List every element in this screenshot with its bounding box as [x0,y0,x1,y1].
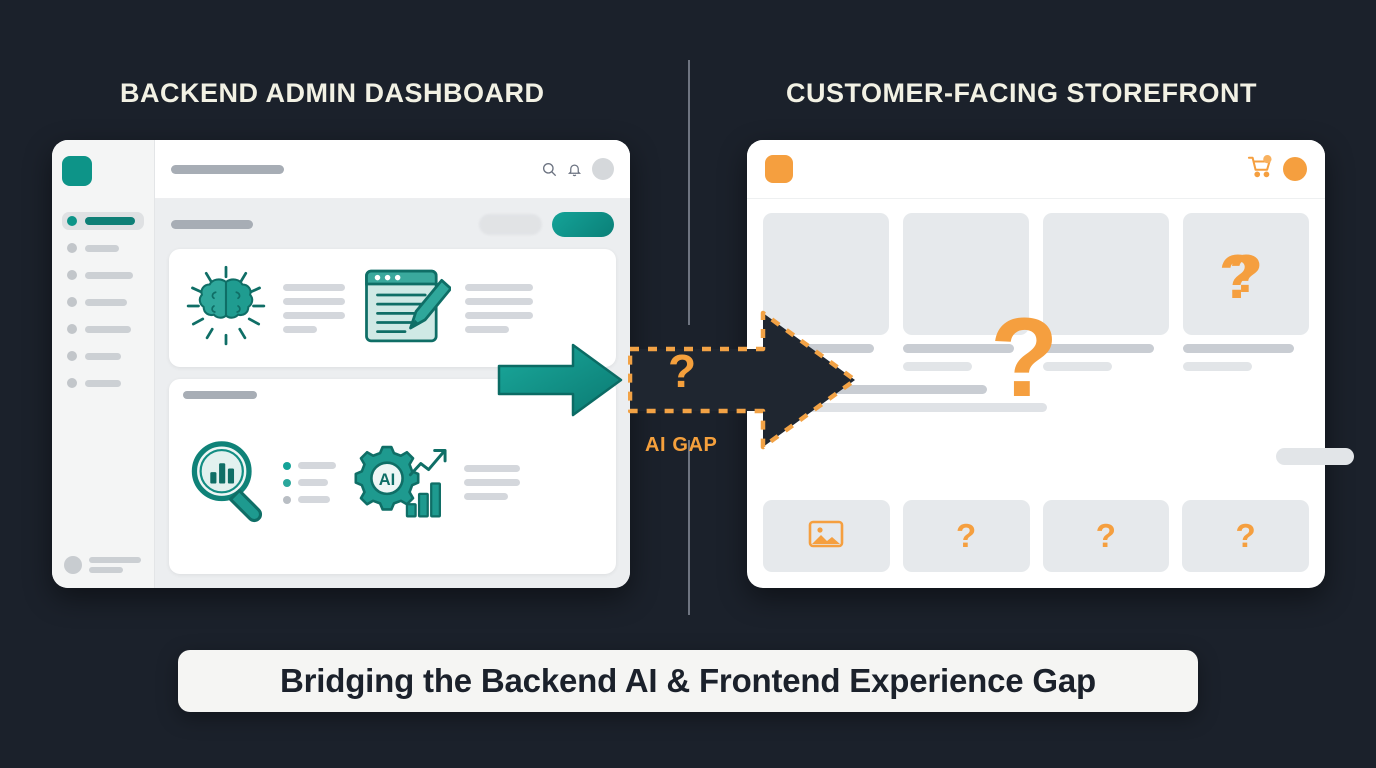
admin-logo-icon[interactable] [62,156,92,186]
nav-dot-icon [67,297,77,307]
image-icon [808,519,844,554]
panel-title-storefront: CUSTOMER-FACING STOREFRONT [786,78,1257,109]
storefront-topbar [747,140,1325,199]
nav-label-placeholder [85,326,131,333]
teal-right-arrow-icon [497,340,625,425]
sidebar-item-1[interactable] [62,212,144,230]
avatar [64,556,82,574]
sidebar-item-6[interactable] [62,347,144,365]
bullet-item-1 [283,462,336,470]
product-price-placeholder [1183,362,1252,371]
gap-question-mark: ? [668,348,696,394]
bullet-dot-icon [283,462,291,470]
nav-dot-icon [67,243,77,253]
admin-sidebar [52,140,155,588]
page-title [171,220,253,229]
nav-label-placeholder [85,245,119,252]
search-input[interactable] [171,165,284,174]
admin-nav-list [62,212,144,392]
brain-icon [183,263,269,354]
store-logo-icon[interactable] [765,155,793,183]
nav-label-placeholder [85,217,135,225]
thumbnail-row: ? ? ? [763,500,1309,572]
vertical-divider-bottom [688,440,690,615]
infographic-stage: BACKEND ADMIN DASHBOARD CUSTOMER-FACING … [0,0,1376,768]
storefront-question-mark-small: ? [1219,253,1257,304]
product-title-placeholder [1043,344,1154,353]
thumbnail-placeholder[interactable]: ? [1182,500,1309,572]
question-icon: ? [1236,522,1256,550]
admin-topbar [155,140,630,199]
bullet-dot-icon [283,479,291,487]
bullet-dot-icon [283,496,291,504]
storefront-pill-placeholder [1276,448,1354,465]
profile-text-placeholder [89,557,141,573]
sidebar-item-3[interactable] [62,266,144,284]
bullet-item-3 [283,496,336,504]
nav-label-placeholder [85,353,121,360]
primary-button[interactable] [552,212,614,237]
question-icon: ? [1096,522,1116,550]
bell-icon[interactable] [567,162,582,177]
bullet-item-2 [283,479,336,487]
nav-label-placeholder [85,299,127,306]
document-pen-icon [359,262,451,355]
gap-label: AI GAP [645,434,718,457]
ai-gear-icon: AI [348,436,452,529]
nav-label-placeholder [85,380,121,387]
caption-banner: Bridging the Backend AI & Frontend Exper… [178,650,1198,712]
storefront-question-mark-large: ? [990,312,1058,404]
sidebar-item-5[interactable] [62,320,144,338]
question-icon: ? [956,522,976,550]
vertical-divider-top [688,60,690,325]
thumbnail-placeholder[interactable]: ? [1043,500,1170,572]
shopping-cart-icon[interactable] [1247,155,1273,184]
sidebar-item-4[interactable] [62,293,144,311]
avatar[interactable] [1283,157,1307,181]
insights-bullet-list [283,462,336,504]
magnifier-chart-icon [183,436,271,529]
insights-card-title-placeholder [183,391,257,399]
product-price-placeholder [903,362,972,371]
nav-dot-icon [67,378,77,388]
insights-card-row: AI [183,403,602,562]
product-card[interactable] [1043,213,1169,371]
nav-dot-icon [67,351,77,361]
thumbnail-placeholder[interactable]: ? [903,500,1030,572]
product-image-placeholder [1043,213,1169,335]
nav-dot-icon [67,324,77,334]
avatar[interactable] [592,158,614,180]
nav-label-placeholder [85,272,133,279]
sidebar-profile[interactable] [64,556,141,574]
ai-card-text-placeholder-left [283,284,345,333]
insights-text-placeholder [464,465,520,500]
caption-text: Bridging the Backend AI & Frontend Exper… [280,662,1096,700]
nav-dot-icon [67,216,77,226]
secondary-button[interactable] [479,214,542,235]
sidebar-item-2[interactable] [62,239,144,257]
admin-page-header [155,199,630,249]
panel-title-backend: BACKEND ADMIN DASHBOARD [120,78,545,109]
sidebar-item-7[interactable] [62,374,144,392]
svg-text:AI: AI [379,471,395,489]
nav-dot-icon [67,270,77,280]
product-title-placeholder [1183,344,1294,353]
thumbnail-image[interactable] [763,500,890,572]
ai-card-text-placeholder-right [465,284,533,333]
search-icon[interactable] [541,161,557,177]
